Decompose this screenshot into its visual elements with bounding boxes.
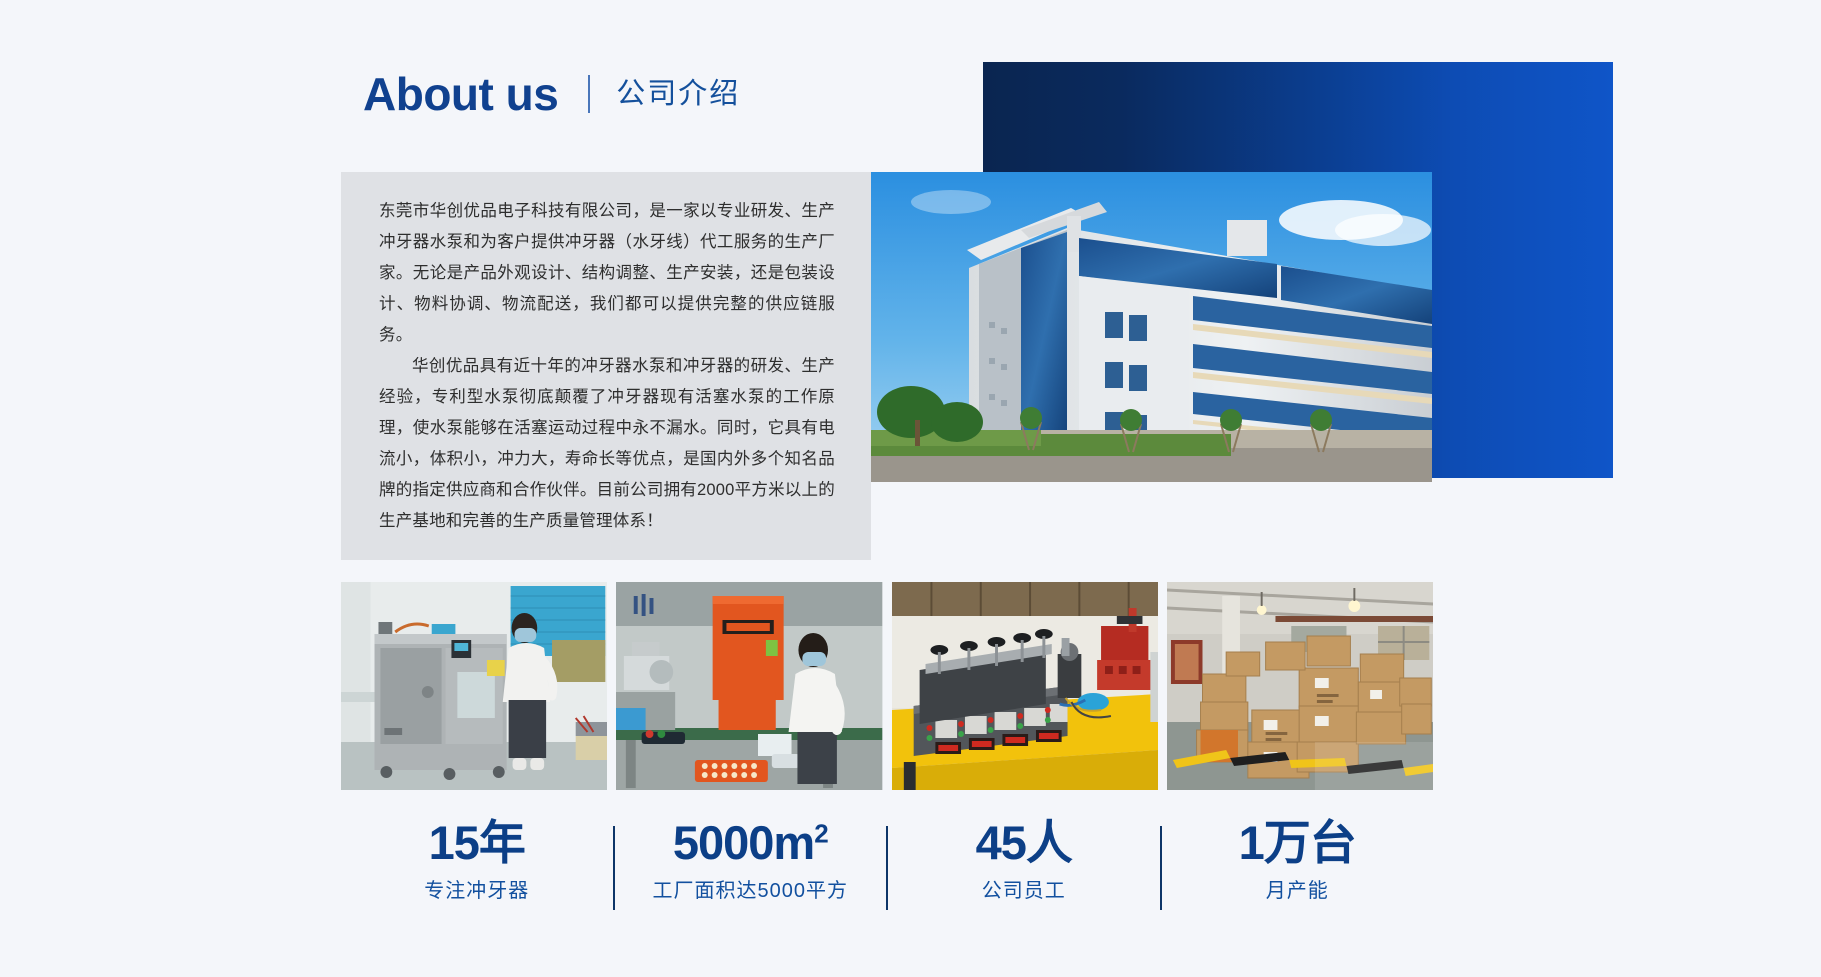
description-paragraph-2: 华创优品具有近十年的冲牙器水泵和冲牙器的研发、生产经验，专利型水泵彻底颠覆了冲牙…	[379, 351, 835, 537]
gallery-item-welding-machine	[616, 582, 882, 790]
heading-divider	[588, 75, 590, 113]
stat-number: 15年	[341, 818, 613, 867]
stat-label: 月产能	[1162, 874, 1434, 903]
stat-label: 公司员工	[888, 874, 1160, 903]
stat-employees: 45人 公司员工	[888, 818, 1160, 903]
warehouse-packaging-illustration	[1167, 582, 1433, 790]
about-us-section: About us 公司介绍 东莞市华创优品电子科技有限公司，是一家以专业研发、生…	[0, 0, 1821, 977]
gallery-item-test-chamber	[341, 582, 607, 790]
stat-capacity: 1万台 月产能	[1162, 818, 1434, 903]
facility-gallery	[341, 582, 1433, 790]
stat-number-value: 5000m	[673, 816, 814, 869]
stat-number: 45人	[888, 818, 1160, 867]
environmental-test-chamber-illustration	[341, 582, 607, 790]
statistics-row: 15年 专注冲牙器 5000m2 工厂面积达5000平方 45人 公司员工 1万…	[341, 818, 1433, 928]
heading-english: About us	[363, 71, 558, 117]
stat-number: 1万台	[1162, 818, 1434, 867]
ultrasonic-welding-machine-illustration	[616, 582, 882, 790]
section-heading: About us 公司介绍	[363, 62, 740, 126]
gallery-item-warehouse	[1167, 582, 1433, 790]
stat-number-superscript: 2	[814, 818, 827, 848]
stat-years: 15年 专注冲牙器	[341, 818, 613, 903]
company-description-panel: 东莞市华创优品电子科技有限公司，是一家以专业研发、生产冲牙器水泵和为客户提供冲牙…	[341, 172, 871, 560]
stat-label: 专注冲牙器	[341, 874, 613, 903]
office-building-photo	[871, 172, 1432, 482]
stat-label: 工厂面积达5000平方	[615, 874, 887, 903]
description-paragraph-1: 东莞市华创优品电子科技有限公司，是一家以专业研发、生产冲牙器水泵和为客户提供冲牙…	[379, 196, 835, 351]
stat-area: 5000m2 工厂面积达5000平方	[615, 818, 887, 903]
office-building-illustration	[871, 172, 1432, 482]
stat-number: 5000m2	[615, 818, 887, 867]
heading-chinese: 公司介绍	[616, 80, 740, 109]
gallery-item-testing-equipment	[892, 582, 1158, 790]
testing-equipment-illustration	[892, 582, 1158, 790]
